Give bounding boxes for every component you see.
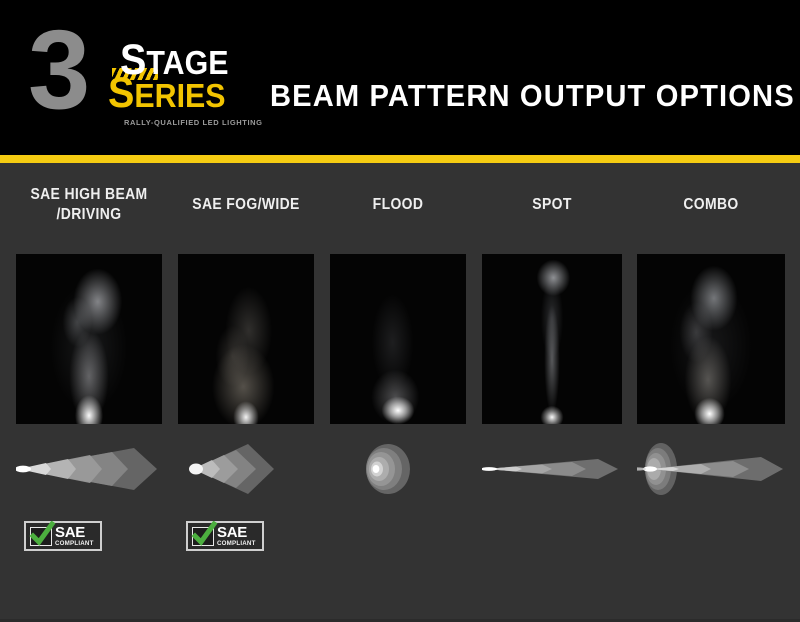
column-spot: SPOT — [482, 163, 622, 622]
brand-numeral: 3 — [28, 20, 84, 120]
column-flood: FLOOD — [330, 163, 466, 622]
column-label-line2: /DRIVING — [57, 206, 122, 223]
column-combo: COMBO — [637, 163, 785, 622]
column-sae-fog-wide: SAE FOG/WIDE SAE C — [178, 163, 314, 622]
badge-title: SAE — [55, 525, 94, 540]
column-label: FLOOD — [337, 195, 459, 215]
badge-title: SAE — [217, 525, 256, 540]
beam-photo — [16, 254, 162, 424]
checkbox-icon — [192, 527, 214, 546]
column-label-line1: FLOOD — [373, 196, 424, 213]
columns-grid: SAE HIGH BEAM /DRIVING — [0, 163, 800, 622]
beam-photo — [482, 254, 622, 424]
header-bar: 3 STAGE SERIES RALLY-QUALIFIED LED LIGHT… — [0, 0, 800, 155]
sae-compliant-badge: SAE COMPLIANT — [24, 521, 102, 551]
brand-word-series: SERIES — [108, 77, 226, 112]
column-label: SPOT — [489, 195, 615, 215]
beam-pattern-infographic: 3 STAGE SERIES RALLY-QUALIFIED LED LIGHT… — [0, 0, 800, 622]
badge-subtitle: COMPLIANT — [217, 541, 256, 547]
column-label-line1: COMBO — [683, 196, 738, 213]
badge-text: SAE COMPLIANT — [217, 525, 256, 547]
badge-text: SAE COMPLIANT — [55, 525, 94, 547]
checkbox-icon — [30, 527, 52, 546]
brand-word-stage: STAGE — [120, 44, 228, 79]
beam-diagram — [330, 438, 466, 500]
sae-compliant-badge: SAE COMPLIANT — [186, 521, 264, 551]
column-label-line1: SAE HIGH BEAM — [30, 186, 147, 203]
brand-logo: 3 STAGE SERIES RALLY-QUALIFIED LED LIGHT… — [28, 22, 238, 134]
column-sae-high-beam-driving: SAE HIGH BEAM /DRIVING — [16, 163, 162, 622]
beam-photo — [178, 254, 314, 424]
column-label: SAE FOG/WIDE — [185, 195, 307, 215]
beam-diagram — [178, 438, 314, 500]
beam-photo — [330, 254, 466, 424]
column-label: SAE HIGH BEAM /DRIVING — [23, 185, 154, 225]
column-label-line1: SPOT — [532, 196, 571, 213]
column-label-line1: SAE FOG/WIDE — [192, 196, 299, 213]
beam-diagram — [637, 438, 785, 500]
badge-subtitle: COMPLIANT — [55, 541, 94, 547]
brand-tagline: RALLY-QUALIFIED LED LIGHTING — [124, 118, 263, 127]
accent-divider — [0, 155, 800, 163]
beam-diagram — [16, 438, 162, 500]
column-label: COMBO — [644, 195, 777, 215]
beam-photo — [637, 254, 785, 424]
beam-diagram — [482, 438, 622, 500]
page-title: BEAM PATTERN OUTPUT OPTIONS — [270, 78, 754, 114]
